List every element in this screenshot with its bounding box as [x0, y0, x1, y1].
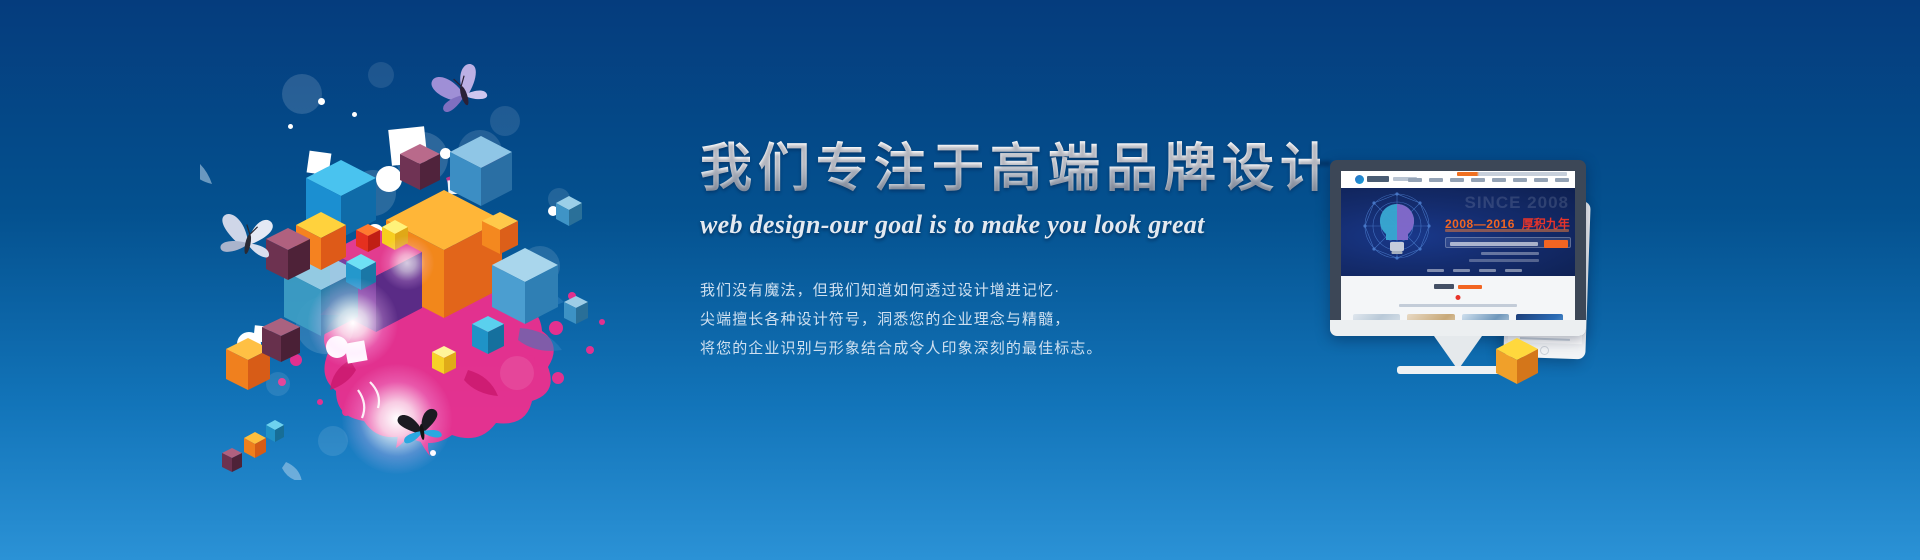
hero-banner: 我们专注于高端品牌设计 web design-our goal is to ma… — [0, 0, 1920, 560]
section-accent-dot — [1456, 295, 1461, 300]
site-logo-icon — [1355, 175, 1364, 184]
paragraph-line: 我们没有魔法，但我们知道如何透过设计增进记忆· — [700, 276, 1320, 305]
hero-ghost-text: SINCE 2008 — [1465, 193, 1570, 213]
page-title: 我们专注于高端品牌设计 — [700, 140, 1320, 198]
monitor-screen: SINCE 2008 2008—2016厚积九年 — [1341, 171, 1575, 320]
hero-tab-row — [1427, 269, 1522, 272]
section-heading — [1434, 284, 1482, 289]
site-topbar — [1457, 172, 1567, 176]
card-item — [1353, 314, 1400, 320]
paragraph-line: 将您的企业识别与形象结合成令人印象深刻的最佳标志。 — [700, 334, 1320, 363]
gold-cube-accent-icon — [1496, 338, 1538, 384]
device-mockup: 2008-2016厚积九年 — [1330, 160, 1660, 390]
hero-sub-line-1 — [1481, 252, 1539, 255]
hero-sub-line-2 — [1469, 259, 1539, 262]
site-logo-text — [1367, 176, 1389, 182]
hero-cta-bar — [1445, 237, 1571, 248]
page-subtitle: web design-our goal is to make you look … — [700, 210, 1320, 240]
site-menu — [1408, 178, 1569, 182]
hero-paragraph: 我们没有魔法，但我们知道如何透过设计增进记忆· 尖端擅长各种设计符号，洞悉您的企… — [700, 276, 1320, 363]
site-hero: SINCE 2008 2008—2016厚积九年 — [1341, 188, 1575, 276]
card-item — [1462, 314, 1509, 320]
monitor-neck — [1434, 336, 1482, 370]
card-item — [1407, 314, 1454, 320]
site-body — [1341, 276, 1575, 320]
hero-copy: 我们专注于高端品牌设计 web design-our goal is to ma… — [700, 140, 1320, 363]
site-nav — [1341, 171, 1575, 188]
tablet-home-button — [1540, 346, 1549, 355]
section-description — [1399, 304, 1517, 307]
monitor-chin — [1330, 320, 1586, 336]
white-streak-accents — [200, 60, 620, 480]
desktop-monitor: SINCE 2008 2008—2016厚积九年 — [1330, 160, 1586, 336]
hero-years-underline — [1445, 229, 1569, 232]
paragraph-line: 尖端擅长各种设计符号，洞悉您的企业理念与精髓， — [700, 305, 1320, 334]
lightbulb-network-icon — [1355, 192, 1439, 272]
card-item — [1516, 314, 1563, 320]
abstract-3d-cubes-artwork — [200, 60, 620, 480]
card-row — [1353, 314, 1563, 320]
